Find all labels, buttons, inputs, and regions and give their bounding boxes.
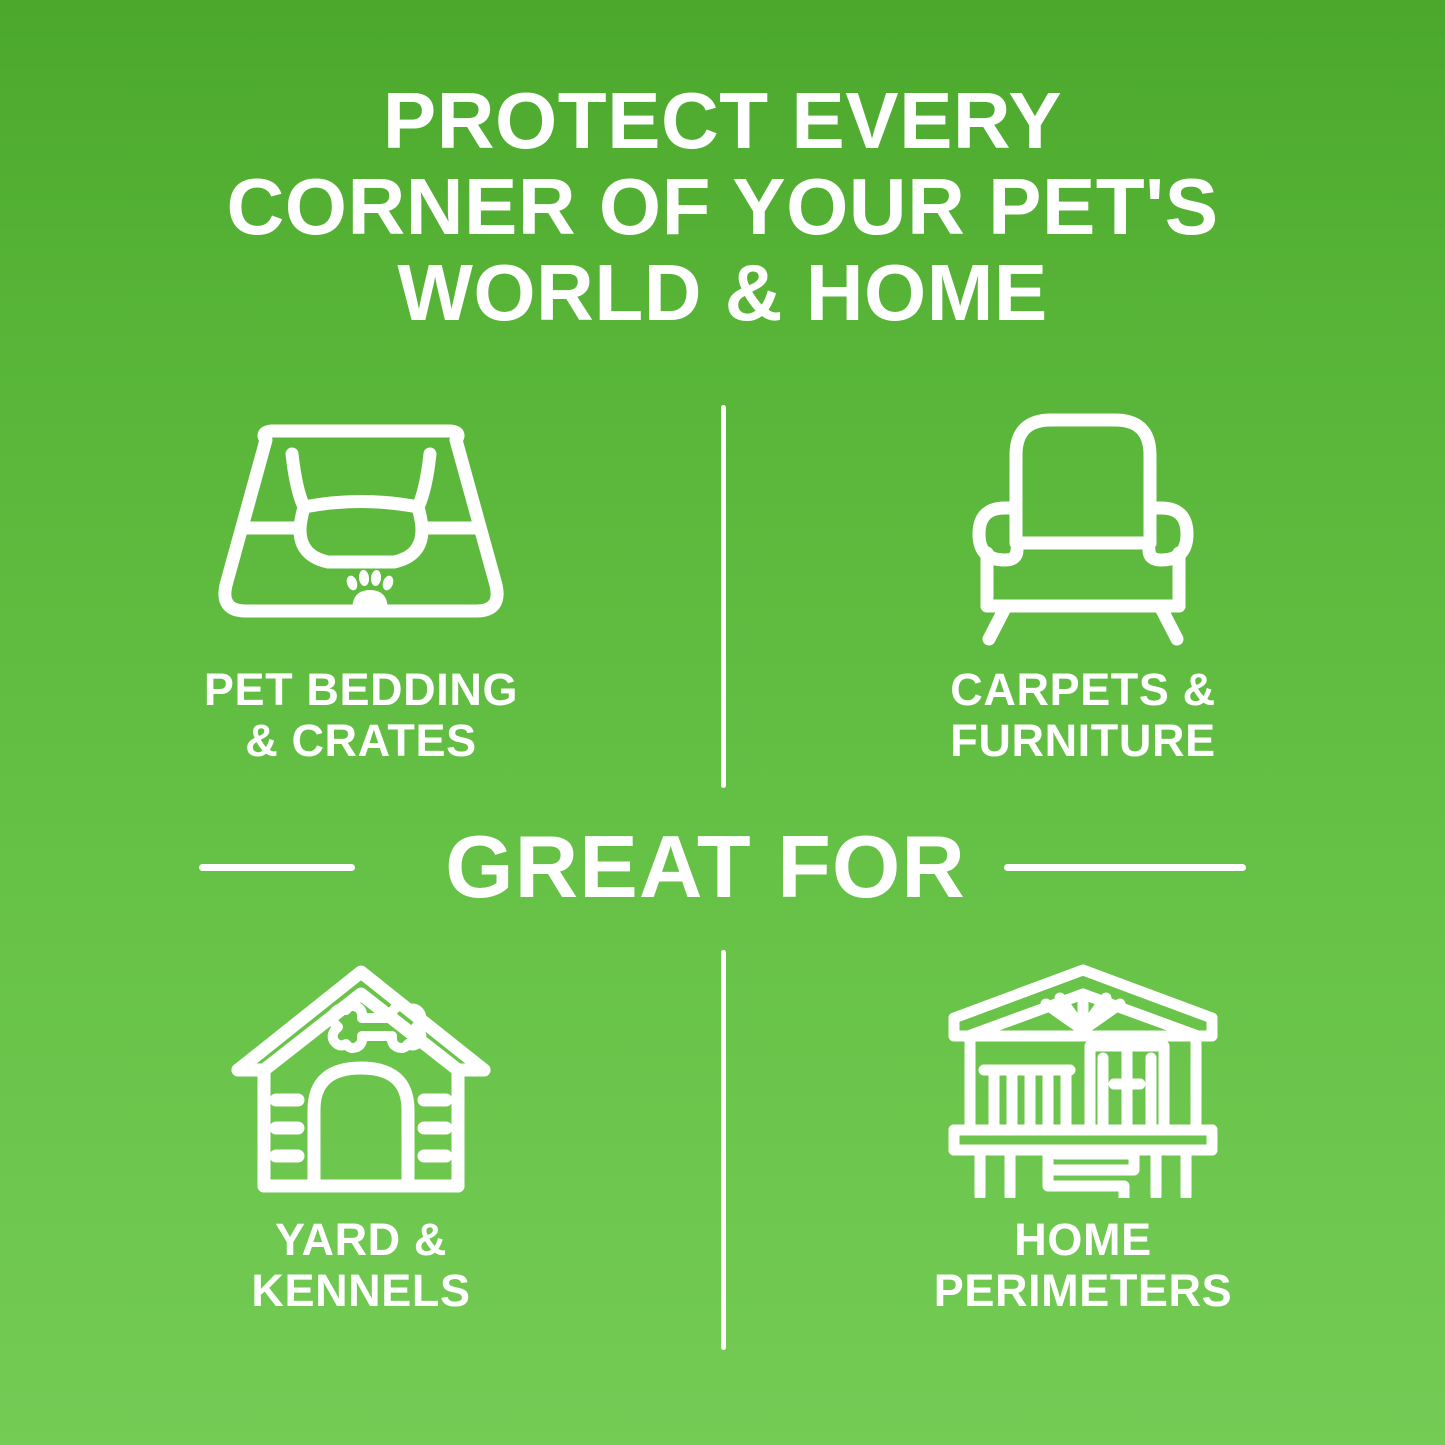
feature-label-home-perimeters: HOME PERIMETERS — [934, 1214, 1233, 1316]
dog-house-icon — [226, 955, 496, 1200]
armchair-icon — [953, 400, 1213, 650]
pet-bed-icon — [196, 400, 526, 650]
feature-cell-home-perimeters: HOME PERIMETERS — [733, 955, 1433, 1355]
feature-label-pet-bedding-crates: PET BEDDING & CRATES — [204, 664, 518, 766]
feature-label-carpets-furniture: CARPETS & FURNITURE — [950, 664, 1215, 766]
feature-label-yard-kennels: YARD & KENNELS — [251, 1214, 470, 1316]
feature-cell-pet-bedding-crates: PET BEDDING & CRATES — [11, 400, 711, 800]
promo-poster: PROTECT EVERY CORNER OF YOUR PET'S WORLD… — [0, 0, 1445, 1445]
feature-grid: PET BEDDING & CRATES — [0, 390, 1445, 1375]
headline-line-2: CORNER OF YOUR PET'S — [0, 164, 1445, 250]
headline-line-1: PROTECT EVERY — [0, 78, 1445, 164]
headline-line-3: WORLD & HOME — [0, 250, 1445, 336]
page-title: PROTECT EVERY CORNER OF YOUR PET'S WORLD… — [0, 78, 1445, 336]
feature-cell-carpets-furniture: CARPETS & FURNITURE — [733, 400, 1433, 800]
feature-cell-yard-kennels: YARD & KENNELS — [11, 955, 711, 1355]
house-icon — [938, 955, 1228, 1200]
